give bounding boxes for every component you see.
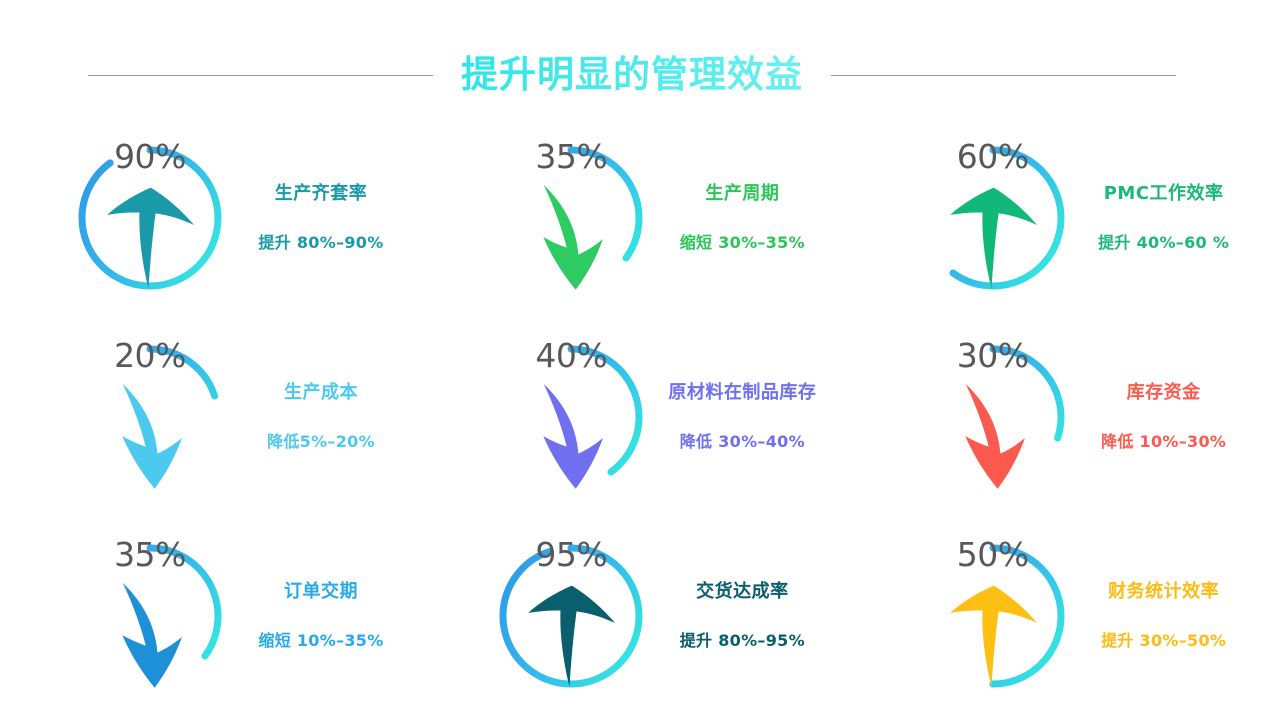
metric-subtitle: 缩短 30%–35% (680, 234, 805, 252)
gauge-value-label: 35% (535, 140, 607, 173)
gauge-value-label: 30% (957, 339, 1029, 372)
header-rule-right (831, 75, 1176, 76)
metric-card-production-cycle[interactable]: 35%生产周期缩短 30%–35% (421, 118, 842, 317)
metric-text: 生产成本降低5%–20% (246, 383, 396, 450)
trend-down-arrow-icon (493, 378, 649, 495)
metric-text: 库存资金降低 10%–30% (1089, 383, 1239, 450)
metric-card-delivery-achievement-rate[interactable]: 95%交货达成率提升 80%–95% (421, 516, 842, 715)
metric-subtitle: 降低 10%–30% (1101, 433, 1226, 451)
gauge-raw-material-wip-inventory: 40% (493, 339, 649, 495)
metric-subtitle: 提升 30%–50% (1101, 632, 1226, 650)
gauge-production-cost: 20% (72, 339, 228, 495)
metric-card-production-kitting-rate[interactable]: 90%生产齐套率提升 80%–90% (0, 118, 421, 317)
gauge-value-label: 50% (957, 538, 1029, 571)
trend-up-arrow-icon (915, 179, 1071, 296)
gauge-center: 35% (72, 538, 228, 694)
metric-text: 原材料在制品库存降低 30%–40% (667, 383, 817, 450)
metric-title: 生产成本 (284, 383, 358, 403)
gauge-value-label: 20% (114, 339, 186, 372)
trend-down-arrow-icon (915, 378, 1071, 495)
gauge-value-label: 35% (114, 538, 186, 571)
metric-subtitle: 缩短 10%–35% (258, 632, 383, 650)
metric-card-production-cost[interactable]: 20%生产成本降低5%–20% (0, 317, 421, 516)
gauge-production-cycle: 35% (493, 140, 649, 296)
metric-card-finance-statistics-efficiency[interactable]: 50%财务统计效率提升 30%–50% (843, 516, 1264, 715)
gauge-value-label: 60% (957, 140, 1029, 173)
gauge-center: 30% (915, 339, 1071, 495)
trend-up-arrow-icon (915, 577, 1071, 694)
metric-title: PMC工作效率 (1104, 184, 1224, 204)
metrics-grid: 90%生产齐套率提升 80%–90%35%生产周期缩短 30%–35%60%PM… (0, 118, 1264, 715)
gauge-center: 20% (72, 339, 228, 495)
metric-subtitle: 提升 80%–95% (680, 632, 805, 650)
header-rule-left (88, 75, 433, 76)
gauge-center: 90% (72, 140, 228, 296)
metric-card-pmc-work-efficiency[interactable]: 60%PMC工作效率提升 40%–60 % (843, 118, 1264, 317)
metric-title: 库存资金 (1127, 383, 1201, 403)
trend-down-arrow-icon (72, 378, 228, 495)
metric-text: 财务统计效率提升 30%–50% (1089, 582, 1239, 649)
gauge-value-label: 95% (535, 538, 607, 571)
metric-text: PMC工作效率提升 40%–60 % (1089, 184, 1239, 251)
gauge-center: 95% (493, 538, 649, 694)
metric-text: 订单交期缩短 10%–35% (246, 582, 396, 649)
metric-card-raw-material-wip-inventory[interactable]: 40%原材料在制品库存降低 30%–40% (421, 317, 842, 516)
gauge-value-label: 90% (114, 140, 186, 173)
gauge-center: 40% (493, 339, 649, 495)
gauge-value-label: 40% (535, 339, 607, 372)
metric-title: 生产齐套率 (275, 184, 368, 204)
trend-up-arrow-icon (72, 179, 228, 296)
metric-subtitle: 降低 30%–40% (680, 433, 805, 451)
metric-text: 交货达成率提升 80%–95% (667, 582, 817, 649)
gauge-finance-statistics-efficiency: 50% (915, 538, 1071, 694)
metric-title: 交货达成率 (696, 582, 789, 602)
page-title: 提升明显的管理效益 (461, 53, 803, 97)
metric-title: 生产周期 (705, 184, 779, 204)
gauge-inventory-capital: 30% (915, 339, 1071, 495)
trend-up-arrow-icon (493, 577, 649, 694)
gauge-center: 60% (915, 140, 1071, 296)
metric-text: 生产周期缩短 30%–35% (667, 184, 817, 251)
metric-card-order-lead-time[interactable]: 35%订单交期缩短 10%–35% (0, 516, 421, 715)
gauge-center: 35% (493, 140, 649, 296)
metric-text: 生产齐套率提升 80%–90% (246, 184, 396, 251)
gauge-production-kitting-rate: 90% (72, 140, 228, 296)
metric-title: 财务统计效率 (1108, 582, 1219, 602)
metric-card-inventory-capital[interactable]: 30%库存资金降低 10%–30% (843, 317, 1264, 516)
metric-subtitle: 提升 40%–60 % (1098, 234, 1229, 252)
gauge-delivery-achievement-rate: 95% (493, 538, 649, 694)
metric-title: 原材料在制品库存 (668, 383, 816, 403)
page-header: 提升明显的管理效益 (0, 40, 1264, 110)
trend-down-arrow-icon (72, 577, 228, 694)
metric-subtitle: 提升 80%–90% (258, 234, 383, 252)
metric-title: 订单交期 (284, 582, 358, 602)
gauge-pmc-work-efficiency: 60% (915, 140, 1071, 296)
gauge-center: 50% (915, 538, 1071, 694)
metric-subtitle: 降低5%–20% (267, 433, 375, 451)
gauge-order-lead-time: 35% (72, 538, 228, 694)
trend-down-arrow-icon (493, 179, 649, 296)
